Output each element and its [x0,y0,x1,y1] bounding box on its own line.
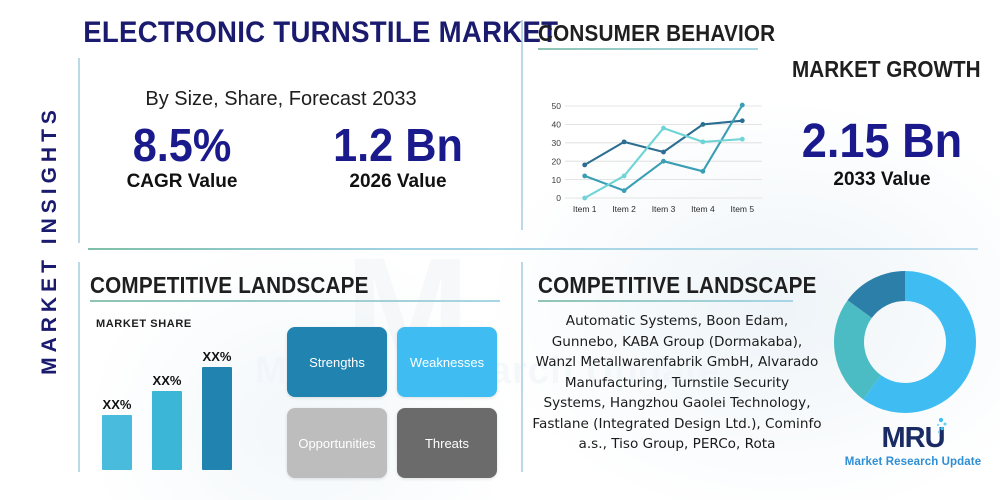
bar-label-1: XX% [95,397,139,412]
bar-1 [102,415,132,470]
bar-label-2: XX% [145,373,189,388]
svg-text:Item 4: Item 4 [691,204,715,214]
svg-text:30: 30 [552,138,562,148]
logo-mark: MRU [881,424,944,453]
swot-opportunities[interactable]: Opportunities [287,408,387,478]
kpi-cagr-label: CAGR Value [96,171,268,193]
svg-text:50: 50 [552,101,562,111]
swot-threats[interactable]: Threats [397,408,497,478]
divider-right-top [521,20,523,230]
svg-text:10: 10 [552,175,562,185]
water-droplet-icon [934,417,948,437]
section-underline-consumer-behavior [538,48,758,50]
bar-label-3: XX% [195,349,239,364]
divider-right-bottom [521,262,523,472]
svg-text:Item 5: Item 5 [730,204,754,214]
swot-strengths[interactable]: Strengths [287,327,387,397]
kpi-2026-label: 2026 Value [312,171,484,193]
market-share-donut-chart [831,268,979,416]
page-subtitle: By Size, Share, Forecast 2033 [66,88,496,111]
kpi-2033-value: 2.15 Bn [788,118,976,167]
rail-label: MARKET INSIGHTS [38,90,62,390]
kpi-cagr-value: 8.5% [101,122,263,169]
svg-text:0: 0 [556,193,561,203]
logo-tagline: Market Research Update [838,456,988,468]
donut-segment-3 [860,286,905,309]
section-underline-competitive-left [90,300,500,302]
svg-text:Item 3: Item 3 [652,204,676,214]
market-share-bar-chart: MARKET SHARE XX%XX%XX% [96,318,271,476]
svg-text:40: 40 [552,120,562,130]
divider-left-top [78,58,80,243]
donut-segment-2 [849,309,872,387]
section-title-competitive-landscape-right: COMPETITIVE LANDSCAPE [538,272,817,299]
kpi-cagr: 8.5% CAGR Value [96,122,268,193]
section-title-market-growth: MARKET GROWTH [792,56,972,83]
svg-text:Item 2: Item 2 [612,204,636,214]
consumer-behavior-line-chart: 01020304050Item 1Item 2Item 3Item 4Item … [543,100,768,218]
section-title-consumer-behavior: CONSUMER BEHAVIOR [538,20,775,47]
bar-chart-title: MARKET SHARE [96,318,192,330]
kpi-2033: 2.15 Bn 2033 Value [782,118,982,191]
donut-chart-svg [831,268,979,416]
bar-2 [152,391,182,470]
company-list: Automatic Systems, Boon Edam, Gunnebo, K… [532,311,822,455]
kpi-2026: 1.2 Bn 2026 Value [312,122,484,193]
section-underline-competitive-right [538,300,793,302]
swot-grid: Strengths Weaknesses Opportunities Threa… [287,327,501,478]
divider-left-bottom [78,262,80,472]
bar-3 [202,367,232,470]
kpi-2026-value: 1.2 Bn [317,122,479,169]
svg-text:20: 20 [552,156,562,166]
logo: MRU Market Research Update [838,424,988,468]
section-title-competitive-landscape-left: COMPETITIVE LANDSCAPE [90,272,369,299]
kpi-2033-label: 2033 Value [782,169,982,191]
divider-horizontal [88,248,978,250]
swot-weaknesses[interactable]: Weaknesses [397,327,497,397]
market-insights-rail: MARKET INSIGHTS [18,0,78,500]
line-chart-svg: 01020304050Item 1Item 2Item 3Item 4Item … [543,100,768,218]
page-title: ELECTRONIC TURNSTILE MARKET [83,16,479,50]
svg-text:Item 1: Item 1 [573,204,597,214]
